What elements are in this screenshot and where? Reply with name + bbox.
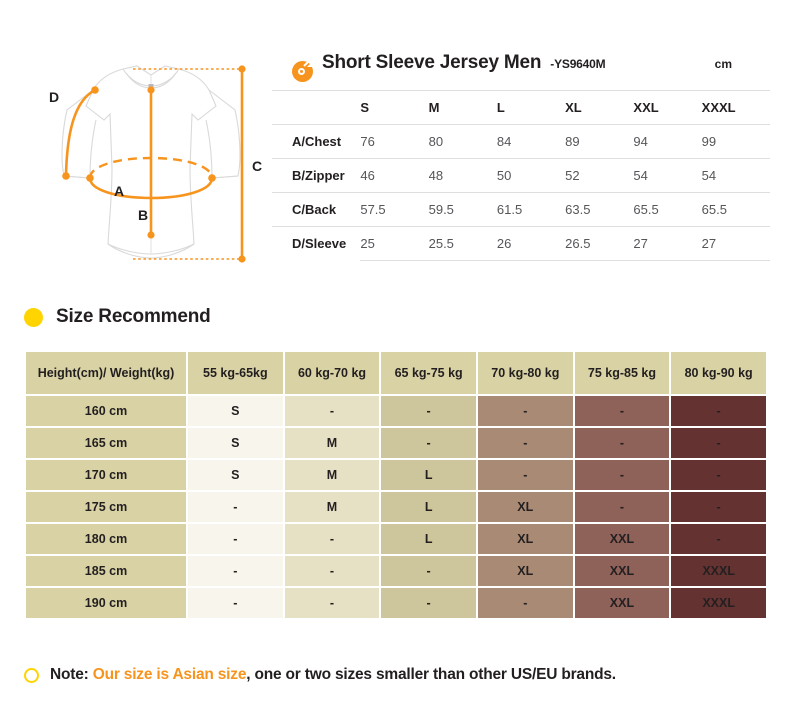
yellow-dot-icon bbox=[24, 308, 43, 327]
recommend-cell: - bbox=[381, 588, 476, 618]
weight-header-4: 70 kg-80 kg bbox=[478, 352, 573, 394]
size-recommend-heading: Size Recommend bbox=[24, 303, 211, 331]
recommend-header-row: Height(cm)/ Weight(kg) 55 kg-65kg 60 kg-… bbox=[26, 352, 766, 394]
height-label: 190 cm bbox=[26, 588, 186, 618]
recommend-cell: - bbox=[285, 524, 380, 554]
recommend-cell: - bbox=[478, 396, 573, 426]
measurement-table-block: Short Sleeve Jersey Men -YS9640M cm S M … bbox=[272, 52, 770, 261]
measurement-cell: 25.5 bbox=[429, 227, 497, 261]
recommend-cell: - bbox=[575, 396, 670, 426]
height-label: 170 cm bbox=[26, 460, 186, 490]
diagram-label-b: B bbox=[138, 207, 148, 223]
note-suffix: , one or two sizes smaller than other US… bbox=[246, 666, 616, 683]
jersey-measurement-diagram: D A B C bbox=[20, 48, 280, 280]
recommend-cell: - bbox=[671, 396, 766, 426]
measurement-cell: 50 bbox=[497, 159, 565, 193]
recommend-cell: XXL bbox=[575, 588, 670, 618]
recommend-cell: - bbox=[575, 492, 670, 522]
measurement-cell: 76 bbox=[360, 125, 428, 159]
table-row: 175 cm - M L XL - - bbox=[26, 492, 766, 522]
weight-header-1: 55 kg-65kg bbox=[188, 352, 283, 394]
measurement-table: S M L XL XXL XXXL A/Chest 76 80 84 89 94… bbox=[272, 90, 770, 261]
recommend-cell: - bbox=[381, 396, 476, 426]
measurement-cell: 84 bbox=[497, 125, 565, 159]
measurement-title-row: Short Sleeve Jersey Men -YS9640M cm bbox=[272, 52, 770, 90]
size-header-m: M bbox=[429, 91, 497, 125]
recommend-cell: XXL bbox=[575, 556, 670, 586]
recommend-cell: XXL bbox=[575, 524, 670, 554]
measurement-cell: 52 bbox=[565, 159, 633, 193]
recommend-cell: XXXL bbox=[671, 556, 766, 586]
weight-header-6: 80 kg-90 kg bbox=[671, 352, 766, 394]
recommend-cell: XXXL bbox=[671, 588, 766, 618]
measurement-cell: 80 bbox=[429, 125, 497, 159]
measurement-corner-cell bbox=[272, 91, 360, 125]
recommend-cell: - bbox=[671, 428, 766, 458]
diagram-label-d: D bbox=[49, 89, 59, 105]
size-header-xxl: XXL bbox=[633, 91, 701, 125]
product-measurement-section: D A B C Short Sleeve Jersey Men -YS9640M… bbox=[0, 0, 790, 285]
recommend-cell: - bbox=[671, 492, 766, 522]
measurement-header-row: S M L XL XXL XXXL bbox=[272, 91, 770, 125]
recommend-cell: - bbox=[285, 396, 380, 426]
note-text: Note: Our size is Asian size, one or two… bbox=[50, 666, 616, 684]
recommend-cell: - bbox=[671, 460, 766, 490]
diagram-label-c: C bbox=[252, 158, 262, 174]
recommend-cell: - bbox=[381, 556, 476, 586]
male-symbol-icon bbox=[292, 61, 313, 82]
recommend-cell: XL bbox=[478, 492, 573, 522]
table-row: 160 cm S - - - - - bbox=[26, 396, 766, 426]
table-row: 170 cm S M L - - - bbox=[26, 460, 766, 490]
measurement-row-label: B/Zipper bbox=[272, 159, 360, 193]
note-row: Note: Our size is Asian size, one or two… bbox=[24, 662, 616, 688]
table-row: C/Back 57.5 59.5 61.5 63.5 65.5 65.5 bbox=[272, 193, 770, 227]
recommend-cell: S bbox=[188, 460, 283, 490]
measurement-cell: 89 bbox=[565, 125, 633, 159]
recommend-cell: - bbox=[188, 524, 283, 554]
height-label: 175 cm bbox=[26, 492, 186, 522]
recommend-cell: L bbox=[381, 524, 476, 554]
measurement-cell: 27 bbox=[702, 227, 770, 261]
recommend-cell: M bbox=[285, 492, 380, 522]
measurement-cell: 57.5 bbox=[360, 193, 428, 227]
measurement-cell: 94 bbox=[633, 125, 701, 159]
size-recommend-table: Height(cm)/ Weight(kg) 55 kg-65kg 60 kg-… bbox=[24, 350, 768, 620]
section-title: Size Recommend bbox=[56, 306, 211, 328]
recommend-cell: - bbox=[188, 492, 283, 522]
recommend-cell: - bbox=[575, 428, 670, 458]
measure-line-b bbox=[147, 86, 154, 238]
size-header-xxxl: XXXL bbox=[702, 91, 770, 125]
recommend-cell: - bbox=[188, 588, 283, 618]
recommend-cell: S bbox=[188, 396, 283, 426]
recommend-cell: - bbox=[381, 428, 476, 458]
measurement-cell: 63.5 bbox=[565, 193, 633, 227]
unit-label: cm bbox=[715, 57, 732, 71]
recommend-cell: L bbox=[381, 460, 476, 490]
measurement-row-label: A/Chest bbox=[272, 125, 360, 159]
recommend-cell: - bbox=[285, 556, 380, 586]
measurement-cell: 54 bbox=[702, 159, 770, 193]
note-prefix: Note: bbox=[50, 666, 93, 683]
height-label: 180 cm bbox=[26, 524, 186, 554]
measurement-cell: 26.5 bbox=[565, 227, 633, 261]
table-row: B/Zipper 46 48 50 52 54 54 bbox=[272, 159, 770, 193]
table-row: A/Chest 76 80 84 89 94 99 bbox=[272, 125, 770, 159]
weight-header-2: 60 kg-70 kg bbox=[285, 352, 380, 394]
measurement-cell: 65.5 bbox=[702, 193, 770, 227]
measurement-cell: 48 bbox=[429, 159, 497, 193]
measurement-row-label: D/Sleeve bbox=[272, 227, 360, 261]
recommend-cell: M bbox=[285, 428, 380, 458]
measurement-row-label: C/Back bbox=[272, 193, 360, 227]
recommend-cell: - bbox=[478, 460, 573, 490]
recommend-cell: - bbox=[478, 588, 573, 618]
height-label: 185 cm bbox=[26, 556, 186, 586]
weight-header-3: 65 kg-75 kg bbox=[381, 352, 476, 394]
product-model-code: -YS9640M bbox=[550, 57, 605, 71]
size-header-l: L bbox=[497, 91, 565, 125]
recommend-cell: L bbox=[381, 492, 476, 522]
measurement-cell: 46 bbox=[360, 159, 428, 193]
size-header-xl: XL bbox=[565, 91, 633, 125]
table-row: 165 cm S M - - - - bbox=[26, 428, 766, 458]
note-accent: Our size is Asian size bbox=[93, 666, 247, 683]
measurement-cell: 54 bbox=[633, 159, 701, 193]
recommend-cell: XL bbox=[478, 524, 573, 554]
recommend-cell: - bbox=[285, 588, 380, 618]
recommend-cell: XL bbox=[478, 556, 573, 586]
measurement-cell: 99 bbox=[702, 125, 770, 159]
height-label: 165 cm bbox=[26, 428, 186, 458]
size-header-s: S bbox=[360, 91, 428, 125]
table-row: 185 cm - - - XL XXL XXXL bbox=[26, 556, 766, 586]
weight-header-5: 75 kg-85 kg bbox=[575, 352, 670, 394]
measurement-cell: 59.5 bbox=[429, 193, 497, 227]
product-title: Short Sleeve Jersey Men bbox=[322, 52, 541, 74]
recommend-cell: - bbox=[575, 460, 670, 490]
table-row: 180 cm - - L XL XXL - bbox=[26, 524, 766, 554]
recommend-cell: S bbox=[188, 428, 283, 458]
measurement-cell: 27 bbox=[633, 227, 701, 261]
measurement-cell: 61.5 bbox=[497, 193, 565, 227]
measurement-cell: 65.5 bbox=[633, 193, 701, 227]
circle-outline-icon bbox=[24, 668, 39, 683]
measurement-cell: 25 bbox=[360, 227, 428, 261]
diagram-label-a: A bbox=[114, 183, 124, 199]
recommend-cell: - bbox=[671, 524, 766, 554]
measurement-cell: 26 bbox=[497, 227, 565, 261]
c-guide-lines bbox=[133, 69, 242, 259]
recommend-cell: - bbox=[188, 556, 283, 586]
recommend-cell: M bbox=[285, 460, 380, 490]
recommend-cell: - bbox=[478, 428, 573, 458]
table-row: 190 cm - - - - XXL XXXL bbox=[26, 588, 766, 618]
recommend-corner-header: Height(cm)/ Weight(kg) bbox=[26, 352, 186, 394]
table-row: D/Sleeve 25 25.5 26 26.5 27 27 bbox=[272, 227, 770, 261]
height-label: 160 cm bbox=[26, 396, 186, 426]
